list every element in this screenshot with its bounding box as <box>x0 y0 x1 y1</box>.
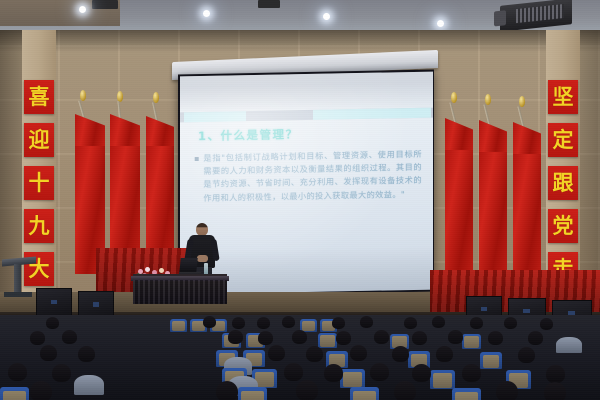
audience-shoulders <box>74 375 104 395</box>
seat-cushion <box>455 392 477 400</box>
projector-lens-icon <box>494 10 506 26</box>
audience-head <box>46 317 59 329</box>
floor-loudspeaker <box>36 288 72 318</box>
audience-head <box>30 331 45 345</box>
banner-char: 喜 <box>24 80 54 114</box>
auditorium-seat <box>430 370 455 389</box>
banner-char: 坚 <box>548 80 578 114</box>
audience-head <box>394 381 416 400</box>
flag-finial-icon <box>485 94 491 105</box>
auditorium-seat <box>0 387 29 400</box>
flag-finial-icon <box>80 90 86 101</box>
flower-bloom <box>145 267 150 272</box>
audience-head <box>412 364 431 382</box>
slide-title: 1、什么是管理？ <box>198 126 299 144</box>
audience-head <box>360 316 373 328</box>
flag-finial-icon <box>519 96 525 107</box>
banner-char: 迎 <box>24 123 54 157</box>
right-wall-banner: 坚 定 跟 党 走 <box>548 80 578 295</box>
audience-head <box>546 365 565 383</box>
banner-char: 九 <box>24 209 54 243</box>
flag-finial-icon <box>451 92 457 103</box>
auditorium-seat <box>238 387 267 400</box>
audience-seating-area <box>0 315 600 400</box>
auditorium-seat <box>452 388 481 400</box>
ceiling-spotlight <box>323 13 330 20</box>
ceiling-projector <box>500 0 572 32</box>
auditorium-seat <box>480 352 502 369</box>
audience-head <box>488 331 503 345</box>
flag-cloth <box>445 150 473 290</box>
ceiling-spotlight <box>79 6 86 13</box>
audience-head <box>518 347 535 363</box>
flower-bloom <box>159 268 164 273</box>
presenter-hands <box>197 255 208 262</box>
audience-head <box>284 363 303 381</box>
speaker-badge <box>481 307 487 311</box>
bullet-marker-icon: ▪ <box>194 152 199 205</box>
slide-header-accent-left <box>184 111 246 122</box>
auditorium-seat <box>340 369 365 388</box>
audience-head <box>40 345 57 361</box>
audience-head <box>257 317 270 329</box>
slide-bullet-item: ▪ 是指"包括制订战略计划和目标、管理资源、使用目标所需要的人力和财务资本以及衡… <box>194 148 422 205</box>
lectern-base <box>4 292 32 297</box>
laptop-screen <box>179 258 198 273</box>
audience-head <box>370 363 389 381</box>
audience-head <box>392 346 409 362</box>
audience-head <box>62 330 77 344</box>
audience-head <box>268 345 285 361</box>
audience-head <box>350 345 367 361</box>
audience-head <box>282 316 295 328</box>
audience-head <box>504 317 517 329</box>
audience-head <box>228 330 243 344</box>
seat-cushion <box>353 391 375 400</box>
audience-head <box>296 380 318 400</box>
auditorium-photo: 喜 迎 十 九 大 坚 定 跟 党 走 <box>0 0 600 400</box>
audience-head <box>528 331 543 345</box>
audience-head <box>203 316 216 328</box>
ceiling-vent <box>92 0 118 9</box>
seat-cushion <box>302 321 315 331</box>
speaker-badge <box>51 300 57 304</box>
audience-head <box>412 331 427 345</box>
audience-head <box>374 330 389 344</box>
speaker-badge <box>523 309 529 313</box>
audience-head <box>462 364 481 382</box>
ceiling-spotlight <box>437 20 444 27</box>
banner-char: 定 <box>548 123 578 157</box>
audience-head <box>470 317 483 329</box>
audience-head <box>216 381 238 400</box>
audience-head <box>404 317 417 329</box>
presenter-table <box>133 274 227 304</box>
auditorium-seat <box>318 333 337 348</box>
ceiling-vent <box>258 0 280 8</box>
seat-cushion <box>320 335 334 347</box>
seat-cushion <box>241 391 263 400</box>
slide-header-accent-right <box>313 108 431 120</box>
audience-head <box>30 381 52 400</box>
banner-char: 跟 <box>548 166 578 200</box>
audience-head <box>540 318 553 330</box>
seat-cushion <box>3 391 25 400</box>
lectern-stem <box>14 264 21 294</box>
table-skirt <box>133 280 227 304</box>
auditorium-seat <box>462 334 481 349</box>
ceiling-spotlight <box>203 10 210 17</box>
banner-char: 十 <box>24 166 54 200</box>
audience-head <box>78 346 95 362</box>
seat-cushion <box>433 373 452 388</box>
slide-bullet-text: 是指"包括制订战略计划和目标、管理资源、使用目标所需要的人力和财务资本以及衡量结… <box>203 148 422 205</box>
audience-head <box>544 382 566 400</box>
audience-head <box>496 381 518 400</box>
audience-head <box>332 317 345 329</box>
audience-head <box>306 346 323 362</box>
audience-head <box>52 364 71 382</box>
auditorium-seat <box>170 319 187 332</box>
slide-body: ▪ 是指"包括制订战略计划和目标、管理资源、使用目标所需要的人力和财务资本以及衡… <box>194 148 422 205</box>
audience-head <box>448 330 463 344</box>
audience-shoulders <box>556 337 582 353</box>
audience-head <box>336 331 351 345</box>
audience-head <box>436 346 453 362</box>
audience-head <box>324 364 343 382</box>
seat-cushion <box>464 336 478 348</box>
audience-head <box>258 331 273 345</box>
ceiling <box>0 0 600 32</box>
audience-head <box>232 317 245 329</box>
seat-cushion <box>343 372 362 387</box>
audience-head <box>292 330 307 344</box>
auditorium-seat <box>350 387 379 400</box>
seat-cushion <box>172 321 185 331</box>
projector-grille <box>516 4 564 23</box>
banner-char: 党 <box>548 209 578 243</box>
audience-head <box>8 363 27 381</box>
wall-top-shadow <box>0 30 600 52</box>
speaker-badge <box>93 302 99 306</box>
audience-head <box>432 316 445 328</box>
seat-cushion <box>483 355 500 368</box>
